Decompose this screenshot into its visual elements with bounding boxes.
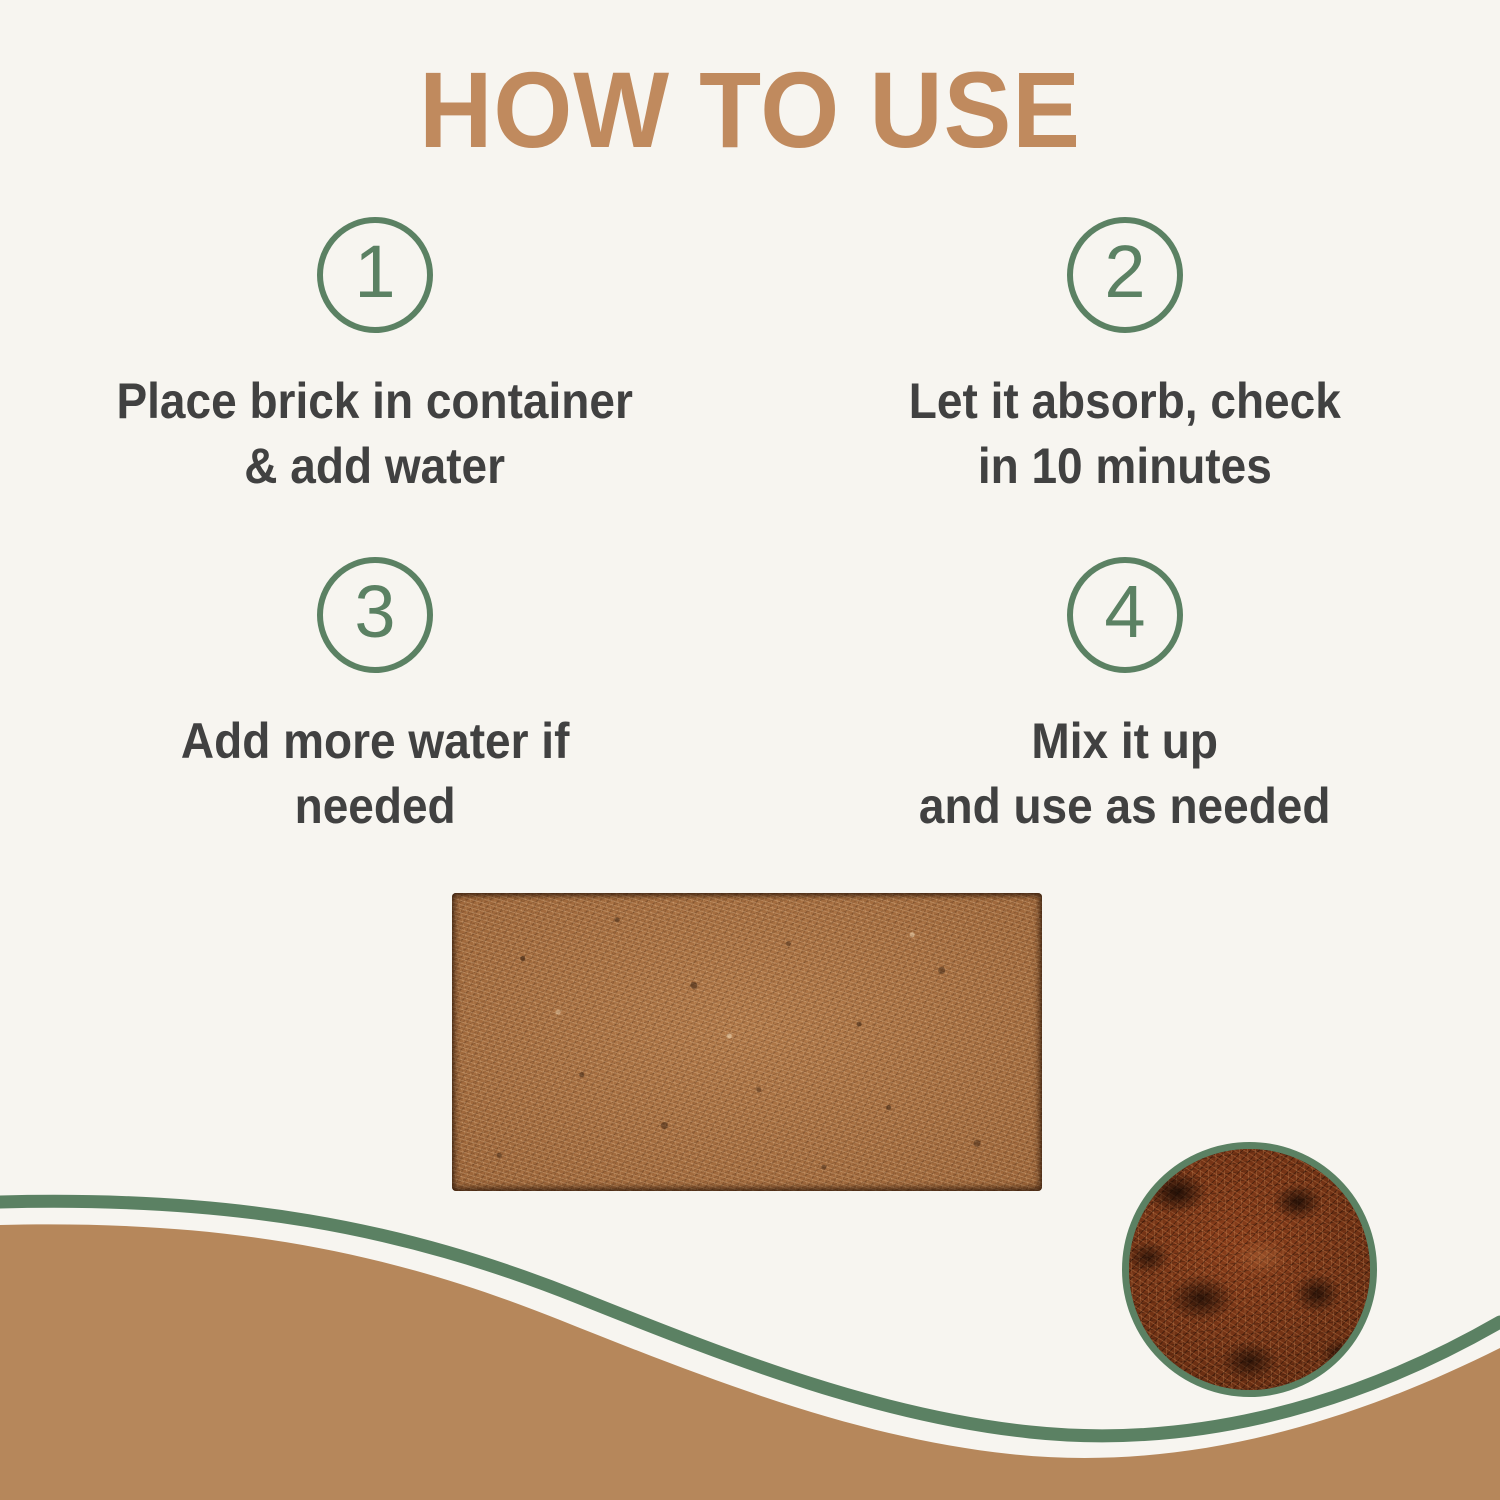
step-1: 1 Place brick in container & add water [0,205,750,545]
infographic-page: HOW TO USE 1 Place brick in container & … [0,0,1500,1500]
step-2-circle-icon: 2 [1067,217,1183,333]
page-title: HOW TO USE [45,55,1455,165]
step-4: 4 Mix it up and use as needed [750,545,1500,885]
step-2-number: 2 [1104,235,1145,309]
step-4-circle-icon: 4 [1067,557,1183,673]
step-4-number: 4 [1104,575,1145,649]
step-3: 3 Add more water if needed [0,545,750,885]
step-3-number: 3 [354,575,395,649]
step-1-circle-icon: 1 [317,217,433,333]
step-1-number: 1 [354,235,395,309]
step-1-label: Place brick in container & add water [117,369,633,499]
step-4-label: Mix it up and use as needed [919,709,1331,839]
coir-brick-image [452,893,1042,1191]
brick-edge-shading [452,893,1042,1191]
step-3-label: Add more water if needed [181,709,570,839]
coir-shadow-blobs [1129,1149,1370,1390]
step-2: 2 Let it absorb, check in 10 minutes [750,205,1500,545]
step-2-label: Let it absorb, check in 10 minutes [909,369,1341,499]
step-3-circle-icon: 3 [317,557,433,673]
steps-grid: 1 Place brick in container & add water 2… [0,205,1500,885]
loose-coir-circle-image [1122,1142,1377,1397]
